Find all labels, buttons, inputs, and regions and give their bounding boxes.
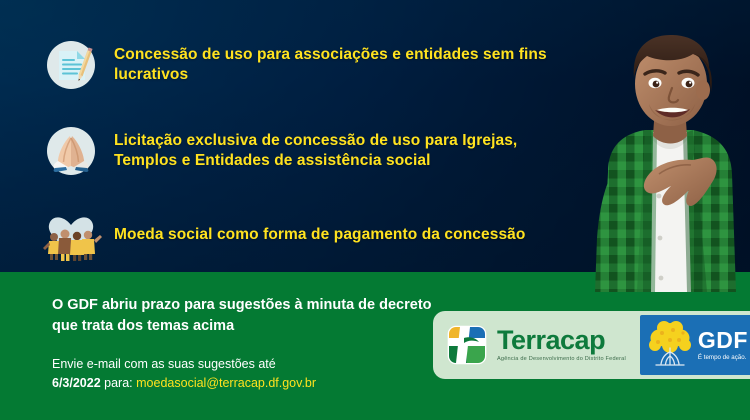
terracap-wordmark: Terracap <box>497 327 626 354</box>
terracap-tagline: Agência de Desenvolvimento do Distrito F… <box>497 357 626 363</box>
document-pencil-icon <box>40 34 102 96</box>
deadline-date: 6/3/2022 <box>52 376 101 390</box>
gdf-wordmark: GDF <box>698 329 748 352</box>
logo-panel: Terracap Agência de Desenvolvimento do D… <box>433 311 750 379</box>
list-item: Concessão de uso para associações e enti… <box>40 34 560 96</box>
gdf-logo[interactable]: GDF É tempo de ação. <box>640 315 750 375</box>
list-item-label: Moeda social como forma de pagamento da … <box>114 225 525 245</box>
campaign-banner: Concessão de uso para associações e enti… <box>0 0 750 420</box>
gdf-tagline: É tempo de ação. <box>698 355 748 361</box>
list-item: Licitação exclusiva de concessão de uso … <box>40 120 560 182</box>
young-man-extending-hand-illustration <box>575 0 750 292</box>
gdf-ipe-tree-icon <box>643 318 697 372</box>
list-item: Moeda social como forma de pagamento da … <box>40 204 560 266</box>
contact-email-link[interactable]: moedasocial@terracap.df.gov.br <box>136 376 316 390</box>
terracap-logo-icon <box>446 324 488 366</box>
list-item-label: Licitação exclusiva de concessão de uso … <box>114 131 560 170</box>
footer-instruction-block: Envie e-mail com as suas sugestões até 6… <box>52 355 452 394</box>
footer-headline: O GDF abriu prazo para sugestões à minut… <box>52 295 452 337</box>
praying-hands-icon <box>40 120 102 182</box>
bullet-list: Concessão de uso para associações e enti… <box>40 34 560 290</box>
list-item-label: Concessão de uso para associações e enti… <box>114 45 560 84</box>
terracap-logo[interactable]: Terracap Agência de Desenvolvimento do D… <box>446 324 626 366</box>
footer-instruction: Envie e-mail com as suas sugestões até <box>52 357 276 371</box>
people-heart-icon <box>40 204 102 266</box>
para-label: para: <box>104 376 133 390</box>
